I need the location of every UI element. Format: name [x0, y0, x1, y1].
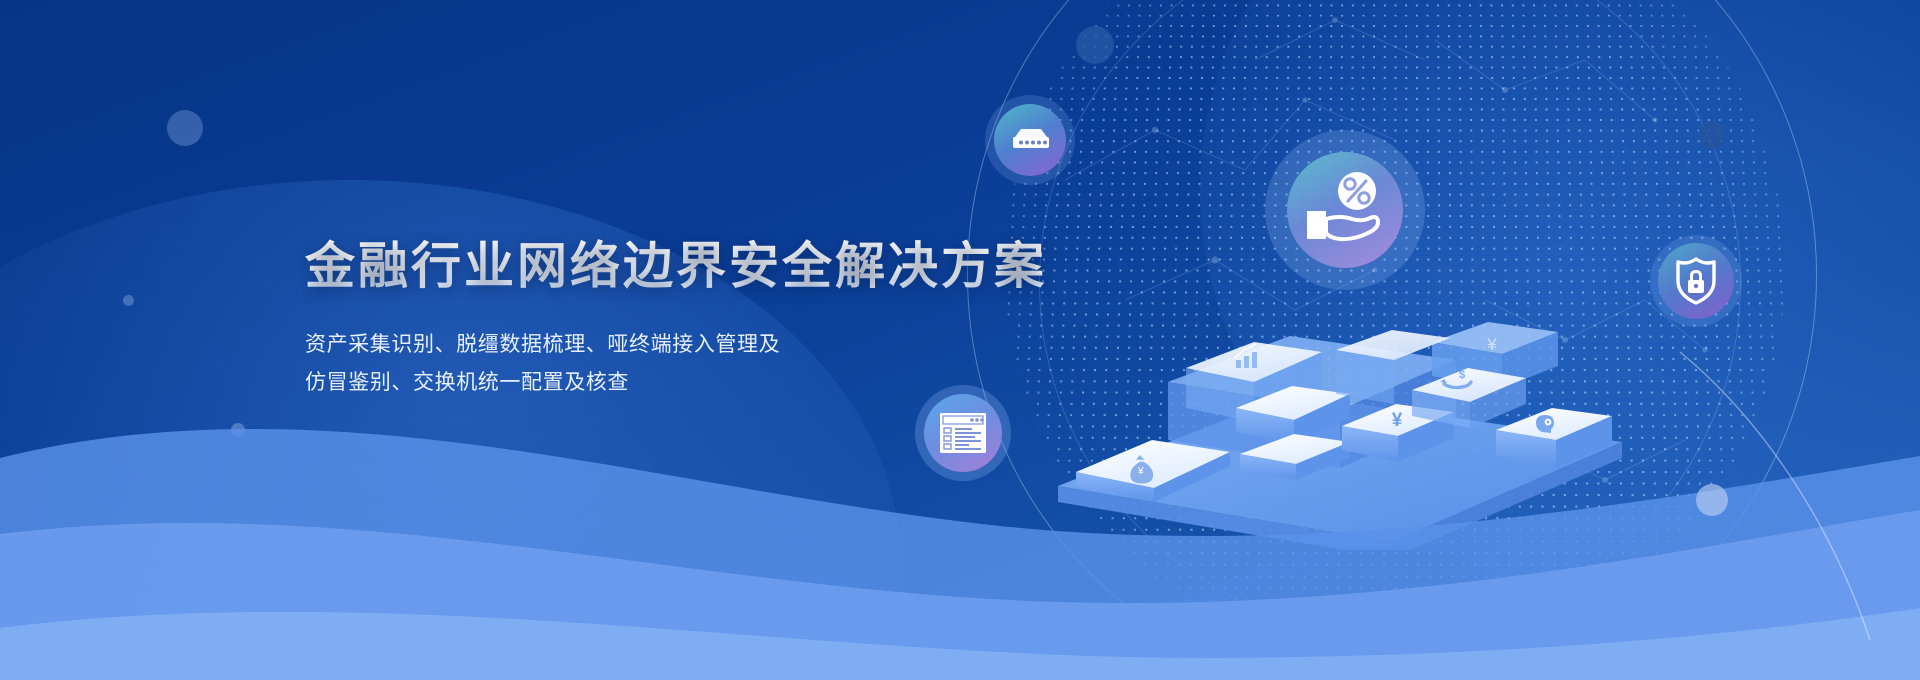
hand-percent-icon — [1297, 167, 1393, 253]
router-badge — [985, 95, 1075, 185]
subtitle-line-1: 资产采集识别、脱缰数据梳理、哑终端接入管理及 — [305, 326, 1065, 364]
shield-lock-icon — [1673, 256, 1719, 306]
page-title: 金融行业网络边界安全解决方案 — [305, 236, 1065, 296]
banner-root: ¥ ¥ — [0, 0, 1920, 680]
dot-mid-left — [123, 295, 134, 306]
dot-top-left — [167, 110, 203, 146]
document-list-icon — [938, 411, 988, 455]
shield-badge — [1650, 235, 1742, 327]
finance-badge — [1265, 130, 1425, 290]
copy-block: 金融行业网络边界安全解决方案 资产采集识别、脱缰数据梳理、哑终端接入管理及 仿冒… — [305, 236, 1065, 402]
subtitle-line-2: 仿冒鉴别、交换机统一配置及核查 — [305, 364, 1065, 402]
router-switch-icon — [1006, 125, 1054, 155]
page-subtitle: 资产采集识别、脱缰数据梳理、哑终端接入管理及 仿冒鉴别、交换机统一配置及核查 — [305, 326, 1065, 402]
